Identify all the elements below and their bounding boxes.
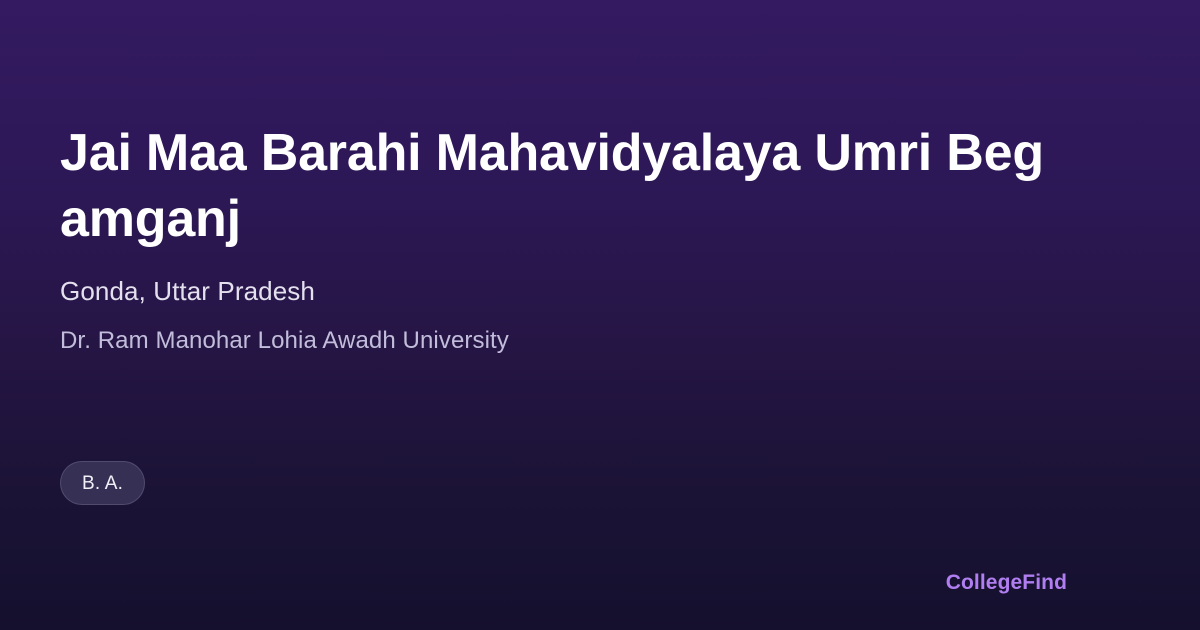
college-affiliation: Dr. Ram Manohar Lohia Awadh University	[60, 308, 1045, 357]
brand-wordmark: CollegeFind	[946, 570, 1067, 596]
course-badge-list: B. A.	[60, 461, 145, 505]
card-content: Jai Maa Barahi Mahavidyalaya Umri Begamg…	[60, 120, 1045, 357]
college-share-card: Jai Maa Barahi Mahavidyalaya Umri Begamg…	[0, 0, 1200, 630]
page-title: Jai Maa Barahi Mahavidyalaya Umri Begamg…	[60, 120, 1045, 252]
college-location: Gonda, Uttar Pradesh	[60, 252, 1045, 308]
status-badge: B. A.	[60, 461, 145, 505]
